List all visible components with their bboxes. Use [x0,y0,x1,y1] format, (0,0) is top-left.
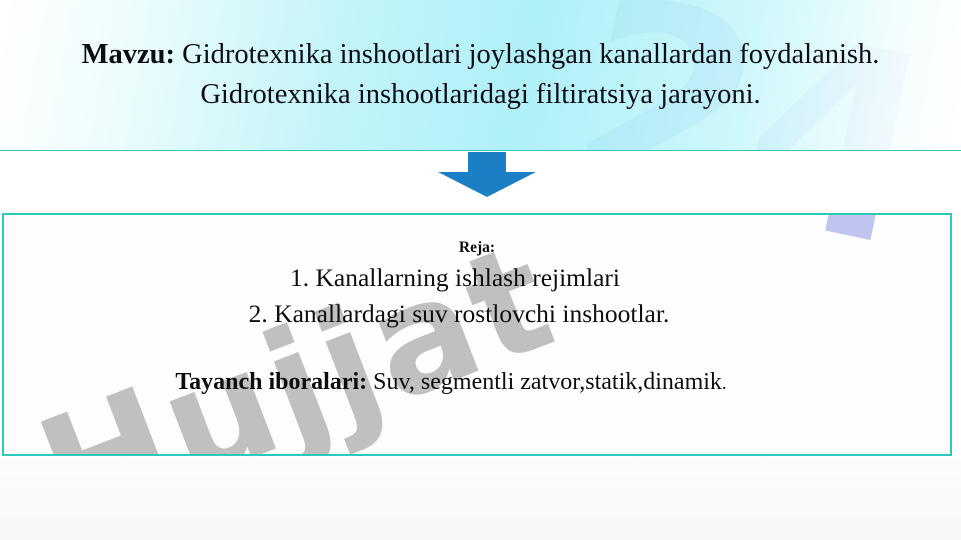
content-panel: Hujjat Reja: 1. Kanallarning ishlash rej… [2,213,952,456]
page-title-text: Gidrotexnika inshootlari joylashgan kana… [175,39,879,110]
list-item: 1. Kanallarning ishlash rejimlari [18,260,936,296]
plan-heading: Reja: [18,239,936,258]
arrow-down-icon [437,152,537,198]
keywords-terminator: . [722,373,727,394]
arrow-zone [0,151,961,213]
page-title-label: Mavzu: [82,39,175,70]
keywords-line: Tayanch iboralari: Suv, segmentli zatvor… [18,366,936,398]
title-panel: Mavzu: Gidrotexnika inshootlari joylashg… [0,0,961,151]
slide-canvas: 24 Mavzu: Gidrotexnika inshootlari joyla… [0,0,961,540]
page-title: Mavzu: Gidrotexnika inshootlari joylashg… [16,35,946,116]
list-item: 2. Kanallardagi suv rostlovchi inshootla… [18,296,936,332]
keywords-value: Suv, segmentli zatvor,statik,dinamik [367,369,722,395]
keywords-label: Tayanch iboralari: [175,369,367,395]
content-spacer [18,332,936,366]
content-panel-inner: Reja: 1. Kanallarning ishlash rejimlari … [4,215,950,454]
